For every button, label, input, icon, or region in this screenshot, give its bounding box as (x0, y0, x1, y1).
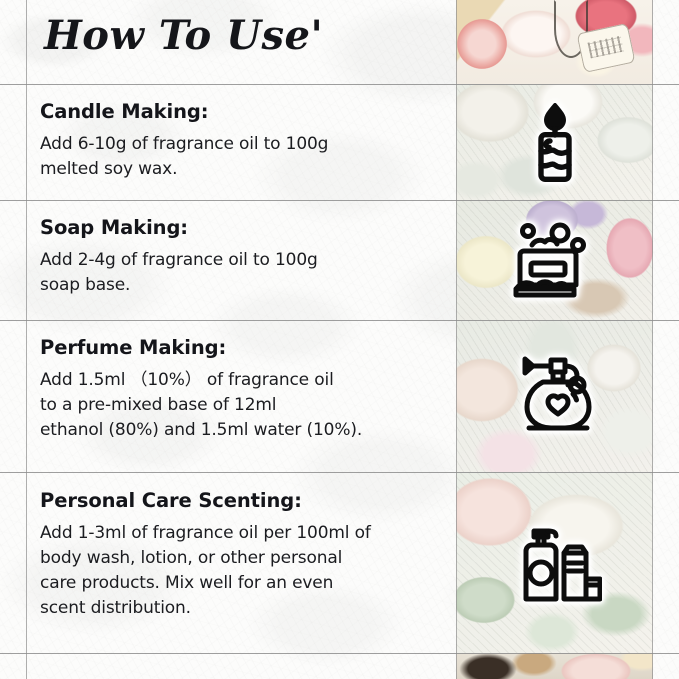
perfume-atomizer-icon (456, 320, 653, 472)
section-heading: Personal Care Scenting: (40, 489, 450, 512)
top-roses-photo (456, 0, 653, 84)
how-to-use-infographic: How To Use' Candle Making: Add 6-10g of … (0, 0, 679, 679)
photo-column-right-edge (652, 0, 653, 679)
text-column: How To Use' Candle Making: Add 6-10g of … (0, 0, 456, 679)
bottom-photo (456, 653, 653, 679)
lotion-bottle-tube-soap-icon (456, 472, 653, 653)
personal-care-icon-tile (456, 472, 653, 653)
section-heading: Soap Making: (40, 216, 450, 239)
page-title: How To Use' (44, 12, 323, 59)
soap-icon-tile (456, 200, 653, 320)
section-personal-care-scenting: Personal Care Scenting: Add 1-3ml of fra… (40, 489, 450, 621)
perfume-icon-tile (456, 320, 653, 472)
photo-icon-column (456, 0, 653, 679)
section-heading: Candle Making: (40, 100, 450, 123)
section-heading: Perfume Making: (40, 336, 450, 359)
candle-icon (456, 84, 653, 200)
section-body: Add 2-4g of fragrance oil to 100g soap b… (40, 248, 450, 298)
section-body: Add 1-3ml of fragrance oil per 100ml of … (40, 521, 450, 621)
section-body: Add 1.5ml （10%） of fragrance oil to a pr… (40, 368, 450, 443)
soap-bar-bubbles-icon (456, 200, 653, 320)
section-body: Add 6-10g of fragrance oil to 100g melte… (40, 132, 450, 182)
candle-icon-tile (456, 84, 653, 200)
section-perfume-making: Perfume Making: Add 1.5ml （10%） of fragr… (40, 336, 450, 443)
section-soap-making: Soap Making: Add 2-4g of fragrance oil t… (40, 216, 450, 298)
section-candle-making: Candle Making: Add 6-10g of fragrance oi… (40, 100, 450, 182)
photo-column-left-edge (456, 0, 457, 679)
